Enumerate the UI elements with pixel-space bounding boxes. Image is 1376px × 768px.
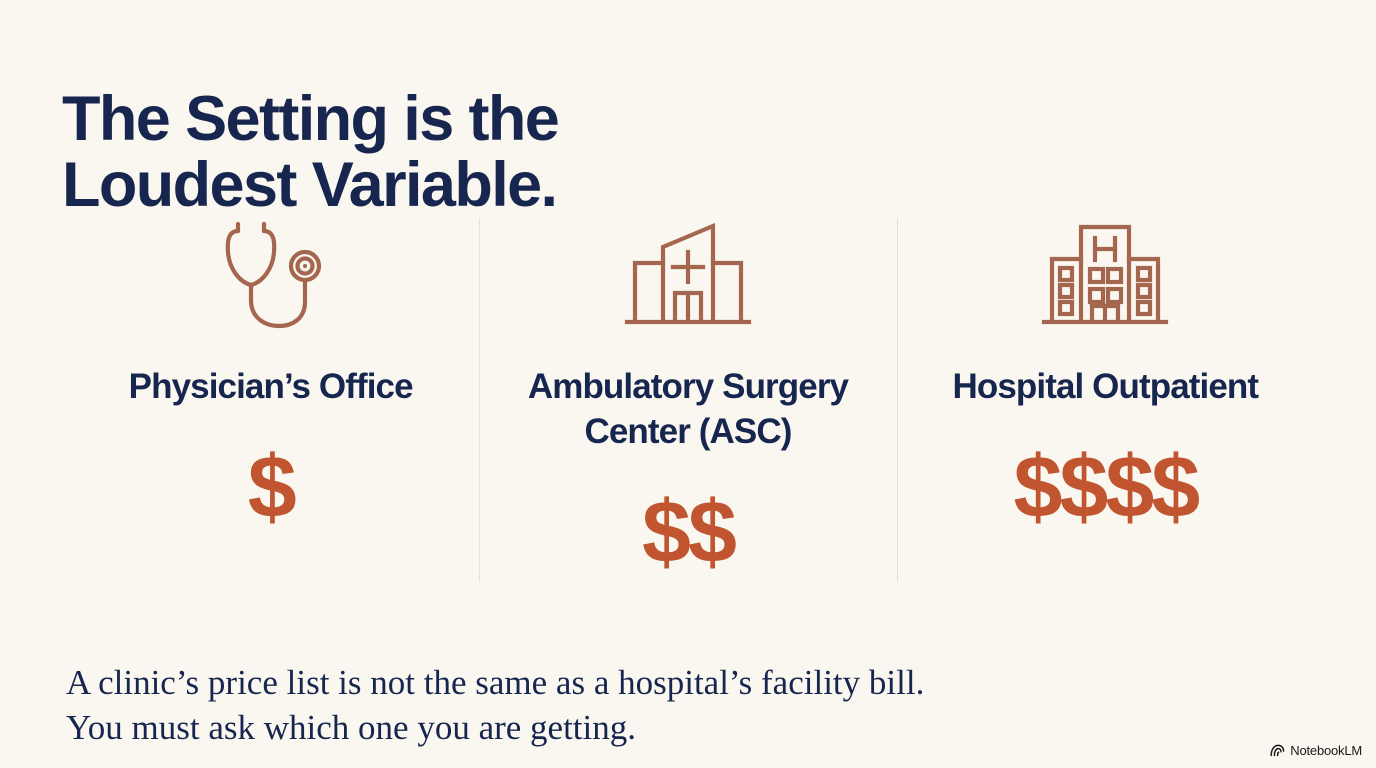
column-label-ambulatory-surgery-center: Ambulatory Surgery Center (ASC) <box>488 364 888 454</box>
page-title: The Setting is the Loudest Variable. <box>62 86 762 218</box>
column-hospital-outpatient: Hospital Outpatient $$$$ <box>897 206 1314 588</box>
slide-canvas: The Setting is the Loudest Variable. <box>0 0 1376 768</box>
surgery-center-icon <box>623 206 753 342</box>
column-label-physicians-office: Physician’s Office <box>129 364 413 409</box>
column-physicians-office: Physician’s Office $ <box>62 206 479 588</box>
column-label-hospital-outpatient: Hospital Outpatient <box>952 364 1258 409</box>
column-ambulatory-surgery-center: Ambulatory Surgery Center (ASC) $$ <box>479 206 896 588</box>
notebooklm-watermark: NotebookLM <box>1270 743 1362 758</box>
price-indicator-ambulatory-surgery-center: $$ <box>642 484 734 580</box>
price-indicator-hospital-outpatient: $$$$ <box>1013 439 1197 535</box>
hospital-icon <box>1040 206 1170 342</box>
setting-comparison-columns: Physician’s Office $ <box>62 206 1314 588</box>
stethoscope-icon <box>217 206 325 342</box>
notebooklm-label: NotebookLM <box>1290 743 1362 758</box>
price-indicator-physicians-office: $ <box>248 439 294 535</box>
caption-text: A clinic’s price list is not the same as… <box>66 660 1216 750</box>
notebooklm-logo-icon <box>1270 744 1285 757</box>
